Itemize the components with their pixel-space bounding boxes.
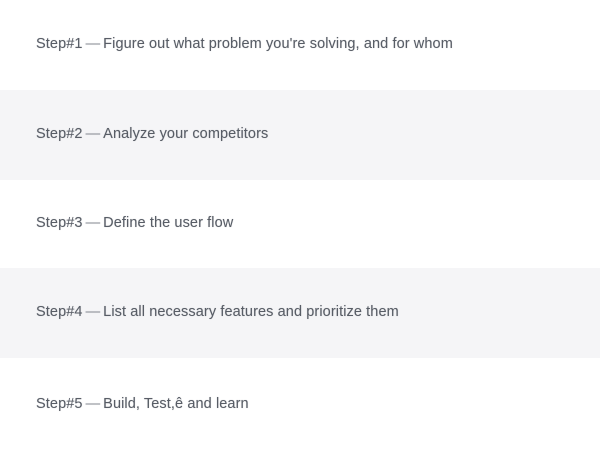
list-item: Step#1—Figure out what problem you're so… xyxy=(0,0,600,90)
step-line: Step#2—Analyze your competitors xyxy=(36,125,268,145)
step-separator: — xyxy=(83,396,104,412)
step-label: Step#3 xyxy=(36,215,83,231)
step-separator: — xyxy=(83,36,104,52)
step-label: Step#4 xyxy=(36,304,83,320)
step-line: Step#5—Build, Test,ê and learn xyxy=(36,395,249,415)
step-line: Step#3—Define the user flow xyxy=(36,214,233,234)
step-separator: — xyxy=(83,215,104,231)
list-item: Step#4—List all necessary features and p… xyxy=(0,268,600,358)
step-description: Analyze your competitors xyxy=(103,126,268,142)
list-item: Step#5—Build, Test,ê and learn xyxy=(0,358,600,451)
step-description: List all necessary features and prioriti… xyxy=(103,304,399,320)
list-item: Step#2—Analyze your competitors xyxy=(0,90,600,180)
step-separator: — xyxy=(83,304,104,320)
step-line: Step#1—Figure out what problem you're so… xyxy=(36,35,453,55)
step-description: Build, Test,ê and learn xyxy=(103,396,249,412)
step-line: Step#4—List all necessary features and p… xyxy=(36,303,399,323)
step-description: Define the user flow xyxy=(103,215,233,231)
step-label: Step#2 xyxy=(36,126,83,142)
step-label: Step#1 xyxy=(36,36,83,52)
step-label: Step#5 xyxy=(36,396,83,412)
step-description: Figure out what problem you're solving, … xyxy=(103,36,453,52)
list-item: Step#3—Define the user flow xyxy=(0,180,600,268)
step-separator: — xyxy=(83,126,104,142)
steps-list: Step#1—Figure out what problem you're so… xyxy=(0,0,600,451)
